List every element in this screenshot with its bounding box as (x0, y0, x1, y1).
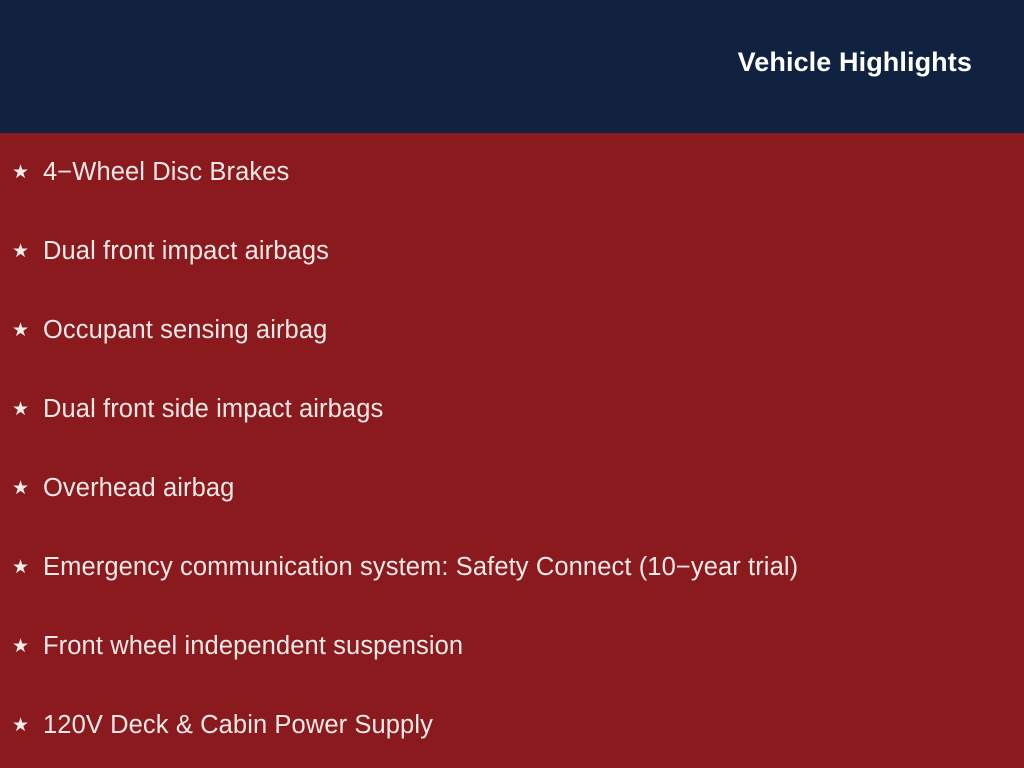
star-icon: ★ (12, 321, 43, 340)
list-item-label: Overhead airbag (43, 474, 234, 503)
list-item-label: Front wheel independent suspension (43, 632, 463, 661)
star-icon: ★ (12, 163, 43, 182)
slide-vehicle-highlights: Vehicle Highlights ★ 4−Wheel Disc Brakes… (0, 0, 1024, 768)
list-item: ★ Emergency communication system: Safety… (12, 548, 1014, 588)
star-icon: ★ (12, 716, 43, 735)
list-item-label: Occupant sensing airbag (43, 316, 327, 345)
star-icon: ★ (12, 242, 43, 261)
list-item-label: Emergency communication system: Safety C… (43, 553, 798, 582)
list-item: ★ Dual front side impact airbags (12, 390, 1014, 430)
star-icon: ★ (12, 637, 43, 656)
list-item-label: Dual front side impact airbags (43, 395, 383, 424)
list-item-label: 4−Wheel Disc Brakes (43, 158, 289, 187)
list-item-label: 120V Deck & Cabin Power Supply (43, 711, 433, 740)
list-item: ★ Occupant sensing airbag (12, 311, 1014, 351)
list-item: ★ Overhead airbag (12, 469, 1014, 509)
header-band: Vehicle Highlights (0, 0, 1024, 133)
star-icon: ★ (12, 400, 43, 419)
star-icon: ★ (12, 558, 43, 577)
list-item: ★ 4−Wheel Disc Brakes (12, 153, 1014, 193)
list-item: ★ 120V Deck & Cabin Power Supply (12, 706, 1014, 746)
list-item: ★ Dual front impact airbags (12, 232, 1014, 272)
page-title: Vehicle Highlights (738, 46, 972, 78)
list-item-label: Dual front impact airbags (43, 237, 329, 266)
vehicle-highlights-list: ★ 4−Wheel Disc Brakes ★ Dual front impac… (0, 133, 1024, 768)
star-icon: ★ (12, 479, 43, 498)
list-item: ★ Front wheel independent suspension (12, 627, 1014, 667)
